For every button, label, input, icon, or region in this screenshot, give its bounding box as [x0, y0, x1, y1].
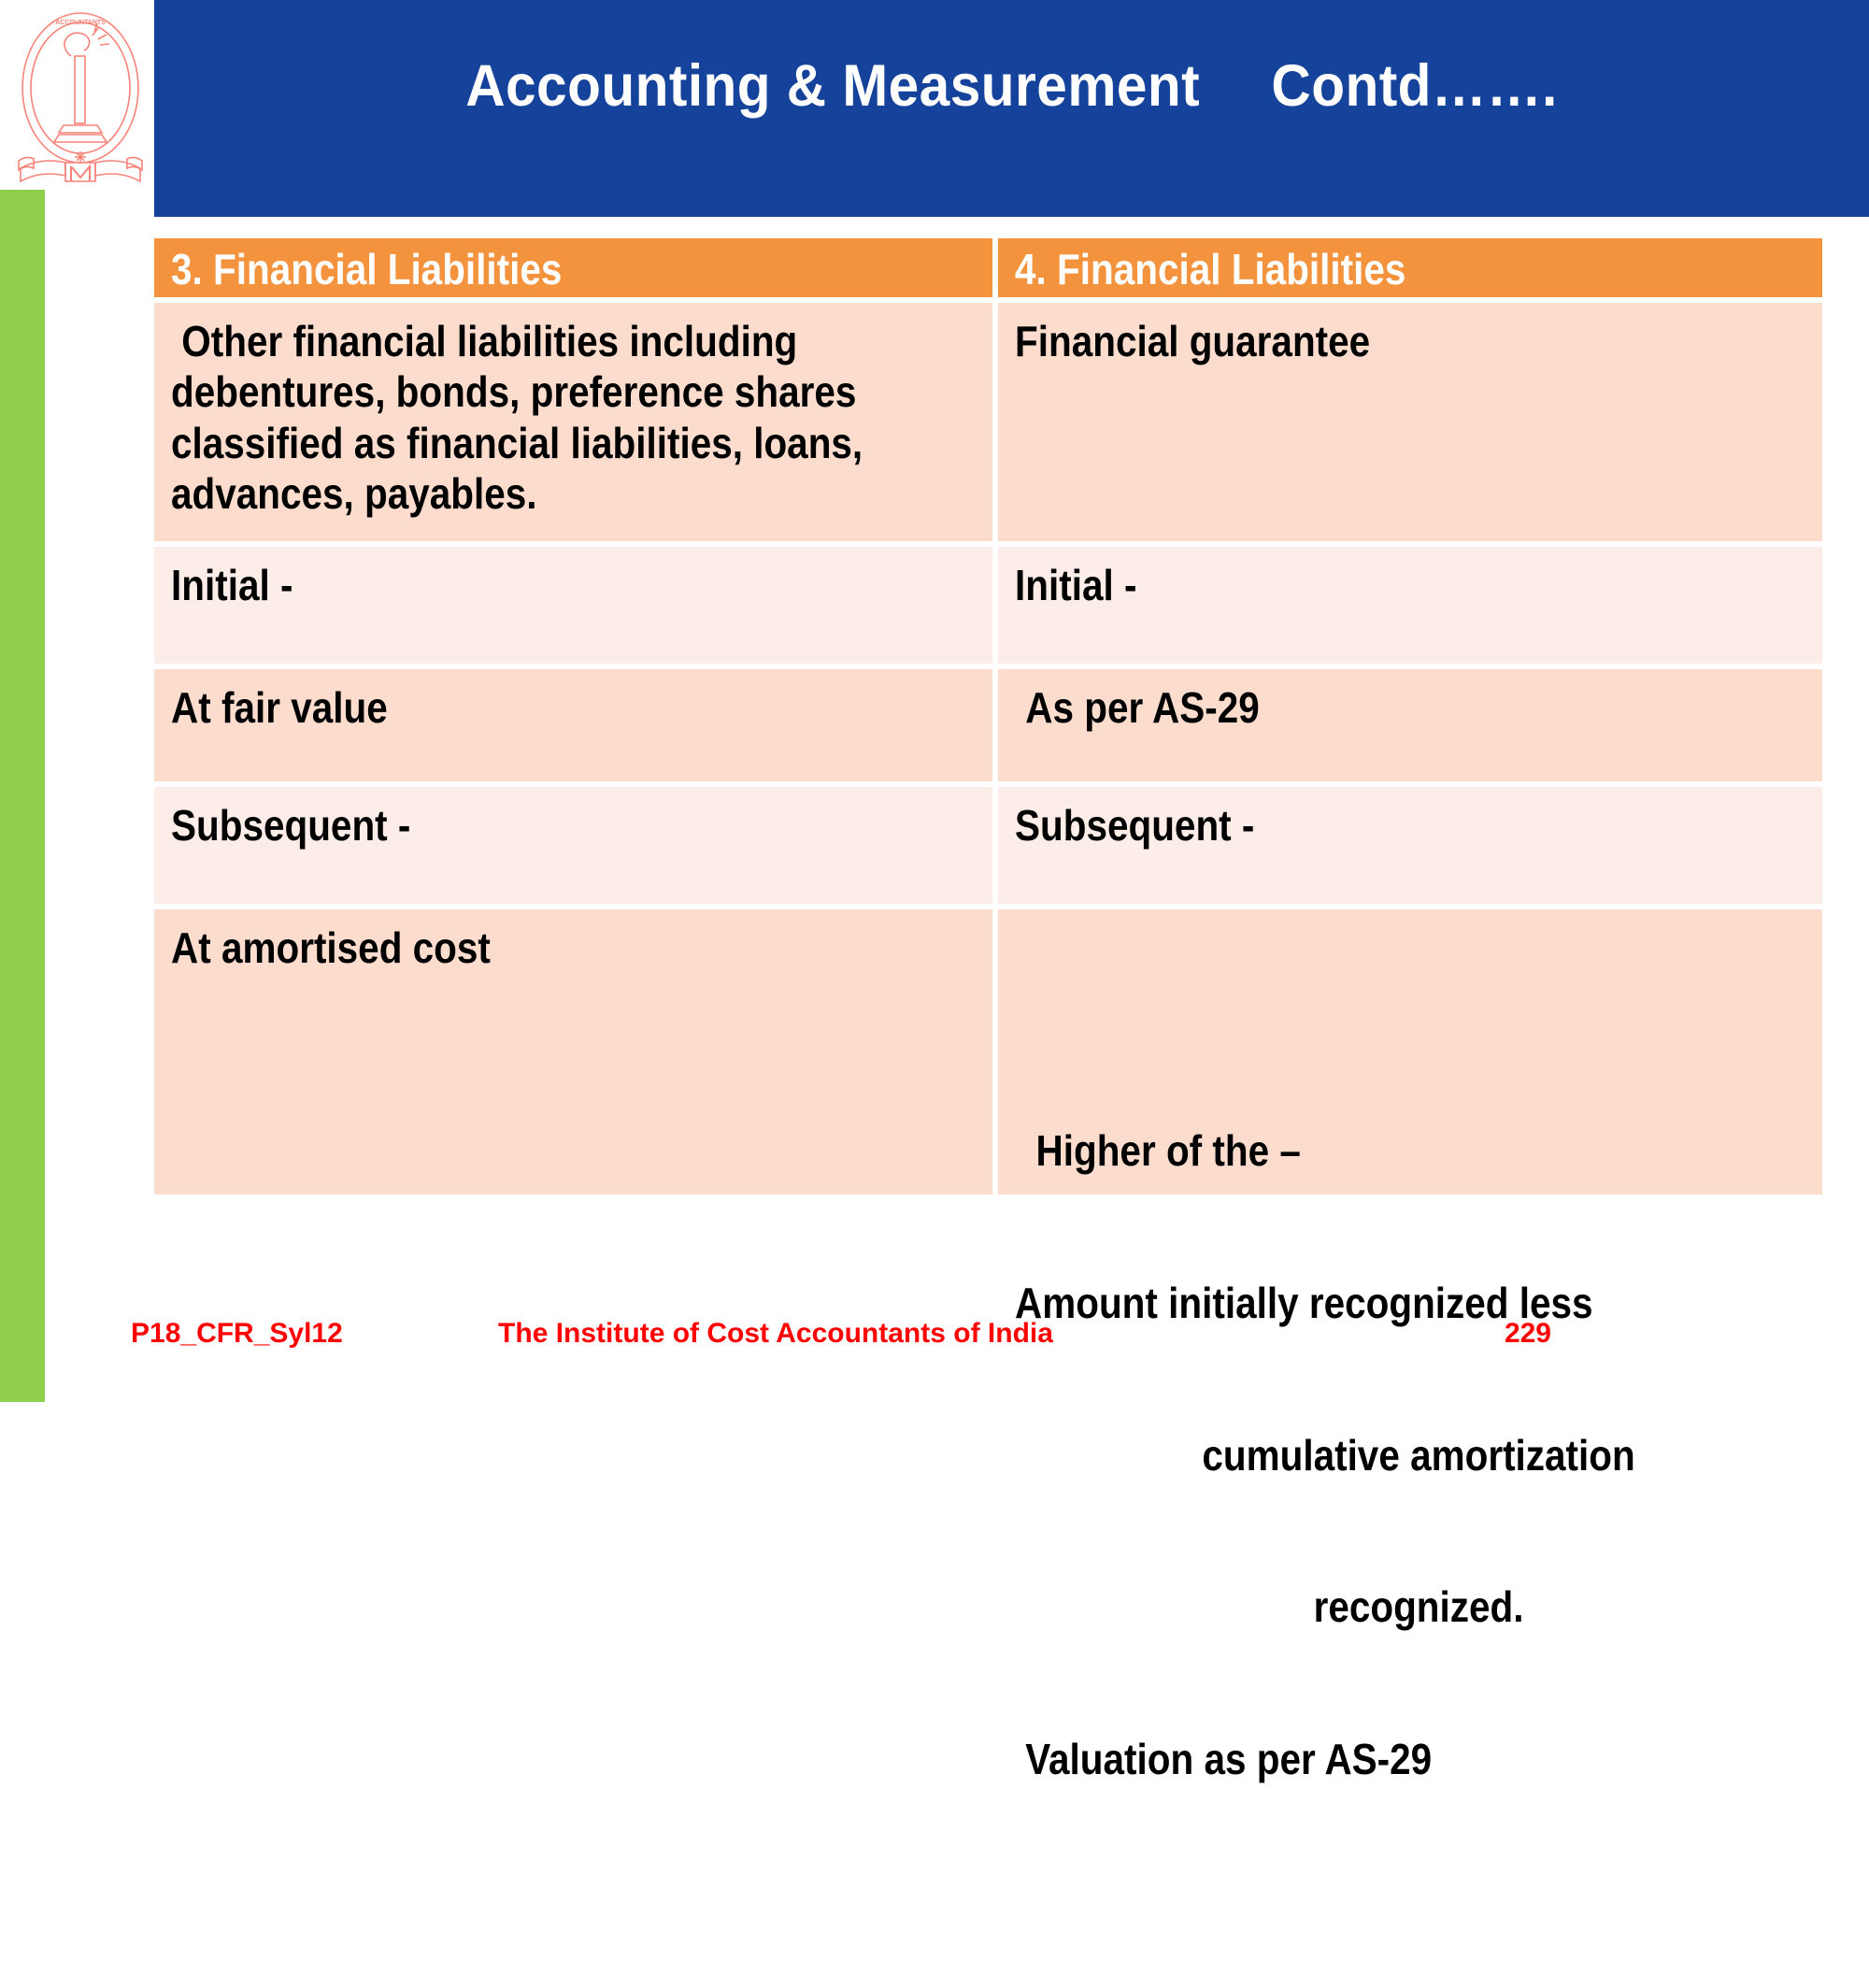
footer-page-number: 229 — [1505, 1318, 1551, 1350]
table-cell-left: Initial - — [154, 547, 992, 664]
slide-footer: P18_CFR_Syl12 The Institute of Cost Acco… — [0, 1318, 1869, 1374]
table-header-left: 3. Financial Liabilities — [154, 238, 992, 297]
table-row: At fair value As per AS-29 — [154, 669, 1822, 781]
cell-line: recognized. — [1015, 1581, 1822, 1632]
table-header-right: 4. Financial Liabilities — [998, 238, 1822, 297]
table-cell-right: Subsequent - — [998, 787, 1822, 904]
table-cell-left: At amortised cost — [154, 909, 992, 1194]
table-cell-left: Other financial liabilities including de… — [154, 303, 992, 541]
table-row: Other financial liabilities including de… — [154, 303, 1822, 541]
cell-line: Valuation as per AS-29 — [1015, 1734, 1822, 1784]
table-cell-left: Subsequent - — [154, 787, 992, 904]
table-cell-right: Initial - — [998, 547, 1822, 664]
comparison-table: 3. Financial Liabilities 4. Financial Li… — [154, 238, 1822, 1200]
slide-title-bar: Accounting & MeasurementContd……. — [154, 0, 1869, 217]
table-cell-right: As per AS-29 — [998, 669, 1822, 781]
table-row: At amortised cost Higher of the – Amount… — [154, 909, 1822, 1194]
table-cell-left: At fair value — [154, 669, 992, 781]
table-row: Subsequent - Subsequent - — [154, 787, 1822, 904]
table-header-row: 3. Financial Liabilities 4. Financial Li… — [154, 238, 1822, 297]
table-cell-right: Financial guarantee — [998, 303, 1822, 541]
cell-line: Higher of the – — [1015, 1125, 1822, 1176]
table-cell-right: Higher of the – Amount initially recogni… — [998, 909, 1822, 1194]
left-green-accent-bar — [0, 190, 45, 1402]
page-title-main: Accounting & Measurement — [465, 53, 1271, 119]
cell-line: cumulative amortization — [1015, 1430, 1822, 1480]
svg-text:ACCOUNTANTS: ACCOUNTANTS — [55, 20, 106, 26]
footer-institute-name: The Institute of Cost Accountants of Ind… — [0, 1318, 1869, 1350]
icai-logo: ACCOUNTANTS — [6, 2, 155, 193]
page-title-suffix: Contd……. — [1271, 53, 1557, 119]
table-row: Initial - Initial - — [154, 547, 1822, 664]
page-title: Accounting & MeasurementContd……. — [214, 52, 1809, 120]
